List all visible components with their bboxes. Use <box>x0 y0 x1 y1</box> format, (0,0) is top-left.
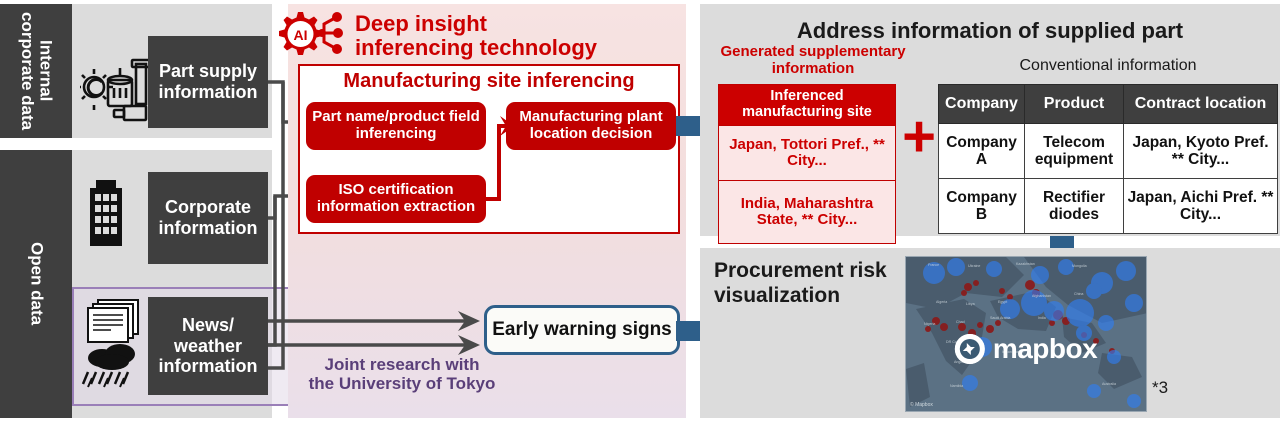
svg-text:Ukraine: Ukraine <box>968 264 980 268</box>
conv-r0-product: Telecom equipment <box>1025 124 1124 179</box>
corporate-information-box[interactable]: Corporate information <box>148 172 268 264</box>
conventional-information-label: Conventional information <box>938 57 1278 75</box>
conv-r0-company: Company A <box>939 124 1025 179</box>
svg-text:Mongolia: Mongolia <box>1072 264 1087 268</box>
svg-text:China: China <box>1074 292 1083 296</box>
svg-text:Saudi Arabia: Saudi Arabia <box>990 316 1010 320</box>
inferred-manufacturing-site-table: Inferenced manufacturing site Japan, Tot… <box>718 84 896 234</box>
early-warning-signs-box[interactable]: Early warning signs <box>484 305 680 355</box>
generated-supplementary-label: Generated supplementary information <box>704 44 922 77</box>
part-supply-information-label: Part supply information <box>148 61 268 102</box>
svg-text:Libya: Libya <box>966 302 975 306</box>
table-row: Company B Rectifier diodes Japan, Aichi … <box>939 179 1278 234</box>
conv-col-contract-location: Contract location <box>1124 85 1278 124</box>
svg-text:AI: AI <box>294 27 308 43</box>
conv-r1-product: Rectifier diodes <box>1025 179 1124 234</box>
svg-text:Namibia: Namibia <box>950 384 963 388</box>
internal-corporate-data-label: Internal corporate data <box>0 4 72 138</box>
svg-text:Algeria: Algeria <box>936 300 947 304</box>
svg-text:Kazakhstan: Kazakhstan <box>1016 262 1035 266</box>
news-weather-information-label: News/ weather information <box>148 315 268 377</box>
part-supply-information-box[interactable]: Part supply information <box>148 36 268 128</box>
plus-symbol: + <box>898 108 940 166</box>
procurement-risk-title: Procurement risk visualization <box>714 258 904 308</box>
footnote-marker: *3 <box>1152 378 1192 398</box>
part-name-inferencing-pill[interactable]: Part name/product field inferencing <box>306 102 486 150</box>
deep-insight-title-line2: inferencing technology <box>355 36 685 60</box>
mapbox-logo: mapbox <box>955 333 1097 365</box>
pill-merge-connector <box>484 96 524 231</box>
svg-text:Chad: Chad <box>956 320 965 324</box>
warning-input-arrows <box>268 305 488 361</box>
inferred-table-header: Inferenced manufacturing site <box>719 85 896 126</box>
mapbox-mark-icon <box>955 334 985 364</box>
corporate-information-label: Corporate information <box>148 197 268 238</box>
svg-text:India: India <box>1038 316 1046 320</box>
joint-research-line2: the University of Tokyo <box>272 374 532 393</box>
ai-gear-icon: AI <box>272 6 352 62</box>
open-data-label: Open data <box>0 150 72 418</box>
conv-col-product: Product <box>1025 85 1124 124</box>
conv-col-company: Company <box>939 85 1025 124</box>
news-weather-information-box[interactable]: News/ weather information <box>148 297 268 395</box>
inferred-table-row-0: Japan, Tottori Pref., ** City... <box>719 126 896 181</box>
deep-insight-title-line1: Deep insight <box>355 12 685 36</box>
inferred-table-row-1: India, Maharashtra State, ** City... <box>719 181 896 244</box>
conv-r1-location: Japan, Aichi Pref. ** City... <box>1124 179 1278 234</box>
table-row: Company A Telecom equipment Japan, Kyoto… <box>939 124 1278 179</box>
conv-r1-company: Company B <box>939 179 1025 234</box>
iso-certification-pill[interactable]: ISO certification information extraction <box>306 175 486 223</box>
part-supply-icon <box>80 42 152 128</box>
manufacturing-site-inferencing-title: Manufacturing site inferencing <box>298 70 680 93</box>
svg-text:France: France <box>928 263 939 267</box>
internal-corporate-data-text: Internal corporate data <box>17 4 54 138</box>
procurement-risk-map[interactable]: FranceUkraineKazakhstan MongoliaAlgeriaL… <box>905 256 1147 412</box>
building-icon <box>84 170 128 248</box>
address-information-title: Address information of supplied part <box>700 18 1280 44</box>
open-data-text: Open data <box>27 242 46 325</box>
map-attribution: © Mapbox <box>910 402 933 408</box>
news-weather-icon <box>80 292 146 392</box>
svg-text:Nigeria: Nigeria <box>924 322 935 326</box>
svg-text:Afghanistan: Afghanistan <box>1032 294 1051 298</box>
conventional-information-table: Company Product Contract location Compan… <box>938 84 1278 224</box>
svg-text:Egypt: Egypt <box>998 300 1007 304</box>
deep-insight-title: Deep insight inferencing technology <box>355 12 685 60</box>
svg-text:Australia: Australia <box>1102 382 1116 386</box>
conv-r0-location: Japan, Kyoto Pref. ** City... <box>1124 124 1278 179</box>
mapbox-wordmark: mapbox <box>993 333 1097 365</box>
manufacturing-plant-location-pill[interactable]: Manufacturing plant location decision <box>506 102 676 150</box>
